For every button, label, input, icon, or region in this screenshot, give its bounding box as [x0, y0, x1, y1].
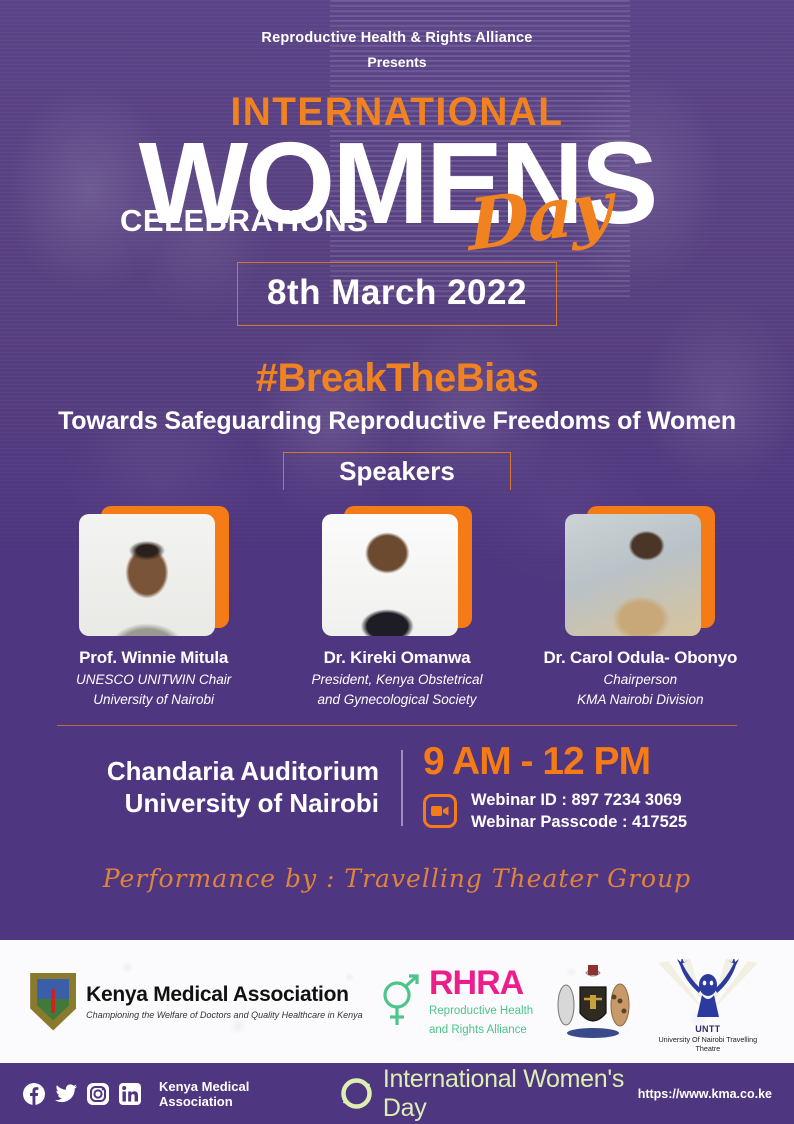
venue-block: Chandaria Auditorium University of Nairo… — [107, 756, 401, 819]
event-time: 9 AM - 12 PM — [423, 742, 687, 781]
instagram-icon[interactable] — [86, 1082, 109, 1105]
performance-credit: Performance by : Travelling Theater Grou… — [0, 864, 794, 893]
section-divider — [57, 725, 737, 727]
untt-acronym: UNTT — [652, 1024, 764, 1034]
twitter-icon[interactable] — [54, 1082, 77, 1105]
speaker-title-line1: UNESCO UNITWIN Chair — [56, 671, 251, 688]
speaker-photo-carol-odula-obonyo — [565, 514, 701, 636]
speakers-heading-box: Speakers — [283, 452, 511, 490]
speaker-card: Dr. Kireki Omanwa President, Kenya Obste… — [299, 506, 494, 709]
speaker-photo-wrap — [322, 506, 472, 636]
linkedin-icon[interactable] — [118, 1082, 141, 1105]
presents-label: Presents — [0, 54, 794, 70]
title-day-script: Day — [467, 171, 612, 261]
speaker-photo-winnie-mitula — [79, 514, 215, 636]
webinar-block: 9 AM - 12 PM Webinar ID : 897 7234 3069 … — [403, 742, 687, 834]
webinar-id: Webinar ID : 897 7234 3069 — [471, 789, 687, 811]
iwd-label: International Women's Day — [383, 1065, 626, 1123]
venue-webinar-row: Chandaria Auditorium University of Nairo… — [0, 742, 794, 834]
sponsor-logo-band: Kenya Medical Association Championing th… — [0, 940, 794, 1063]
kma-text-block: Kenya Medical Association Championing th… — [86, 984, 362, 1020]
speaker-title-line2: KMA Nairobi Division — [543, 691, 738, 708]
title-celebrations: CELEBRATIONS — [120, 203, 368, 239]
sponsor-logo-kenya-coat-of-arms — [550, 961, 636, 1043]
iwd-circle-arrows-icon — [340, 1077, 373, 1110]
speakers-heading: Speakers — [339, 456, 455, 487]
event-date: 8th March 2022 — [238, 273, 556, 313]
speaker-name: Prof. Winnie Mitula — [56, 648, 251, 668]
speaker-card: Prof. Winnie Mitula UNESCO UNITWIN Chair… — [56, 506, 251, 709]
speaker-name: Dr. Carol Odula- Obonyo — [543, 648, 738, 668]
kma-shield-inner-icon — [37, 979, 69, 1021]
speaker-photo-wrap — [79, 506, 229, 636]
iwd-branding: International Women's Day — [340, 1065, 626, 1123]
event-date-box: 8th March 2022 — [237, 262, 557, 326]
kma-tagline: Championing the Welfare of Doctors and Q… — [86, 1010, 362, 1020]
kma-shield-icon — [30, 973, 76, 1031]
speaker-name: Dr. Kireki Omanwa — [299, 648, 494, 668]
footer-url[interactable]: https://www.kma.co.ke — [638, 1087, 772, 1101]
campaign-theme: Towards Safeguarding Reproductive Freedo… — [0, 407, 794, 436]
rhra-text-block: RHRA Reproductive Health and Rights Alli… — [429, 966, 533, 1037]
untt-figure-icon — [652, 959, 764, 1019]
sponsor-logo-rhra: RHRA Reproductive Health and Rights Alli… — [379, 966, 533, 1037]
speakers-row: Prof. Winnie Mitula UNESCO UNITWIN Chair… — [0, 506, 794, 709]
rhra-acronym: RHRA — [429, 966, 533, 1000]
speaker-photo-kireki-omanwa — [322, 514, 458, 636]
speaker-title-line1: Chairperson — [543, 671, 738, 688]
organizer-header: Reproductive Health & Rights Alliance Pr… — [0, 0, 794, 70]
kma-name: Kenya Medical Association — [86, 984, 362, 1005]
sponsor-logo-kma: Kenya Medical Association Championing th… — [30, 973, 362, 1031]
rhra-sub-line1: Reproductive Health — [429, 1004, 533, 1018]
webinar-passcode: Webinar Passcode : 417525 — [471, 811, 687, 833]
facebook-icon[interactable] — [22, 1082, 45, 1105]
poster-canvas: Reproductive Health & Rights Alliance Pr… — [0, 0, 794, 1124]
footer-handle: Kenya Medical Association — [159, 1079, 302, 1109]
campaign-hashtag: #BreakTheBias — [0, 356, 794, 401]
organizer-name: Reproductive Health & Rights Alliance — [0, 30, 794, 46]
speaker-title-line2: and Gynecological Society — [299, 691, 494, 708]
sponsor-logo-untt: UNTT University Of Nairobi Travelling Th… — [652, 959, 764, 1045]
venue-line2: University of Nairobi — [107, 788, 379, 820]
footer-bar: Kenya Medical Association International … — [0, 1063, 794, 1124]
speaker-title-line1: President, Kenya Obstetrical — [299, 671, 494, 688]
webinar-text-block: Webinar ID : 897 7234 3069 Webinar Passc… — [471, 789, 687, 834]
speaker-card: Dr. Carol Odula- Obonyo Chairperson KMA … — [543, 506, 738, 709]
gender-symbols-icon — [379, 973, 423, 1031]
venue-line1: Chandaria Auditorium — [107, 756, 379, 788]
social-links — [22, 1082, 141, 1105]
speaker-photo-wrap — [565, 506, 715, 636]
untt-full-name: University Of Nairobi Travelling Theatre — [652, 1035, 764, 1053]
webinar-details-row: Webinar ID : 897 7234 3069 Webinar Passc… — [423, 789, 687, 834]
speaker-title-line2: University of Nairobi — [56, 691, 251, 708]
video-camera-icon — [423, 794, 457, 828]
rhra-sub-line2: and Rights Alliance — [429, 1023, 533, 1037]
title-main-row: WOMENS Day CELEBRATIONS — [0, 129, 794, 244]
